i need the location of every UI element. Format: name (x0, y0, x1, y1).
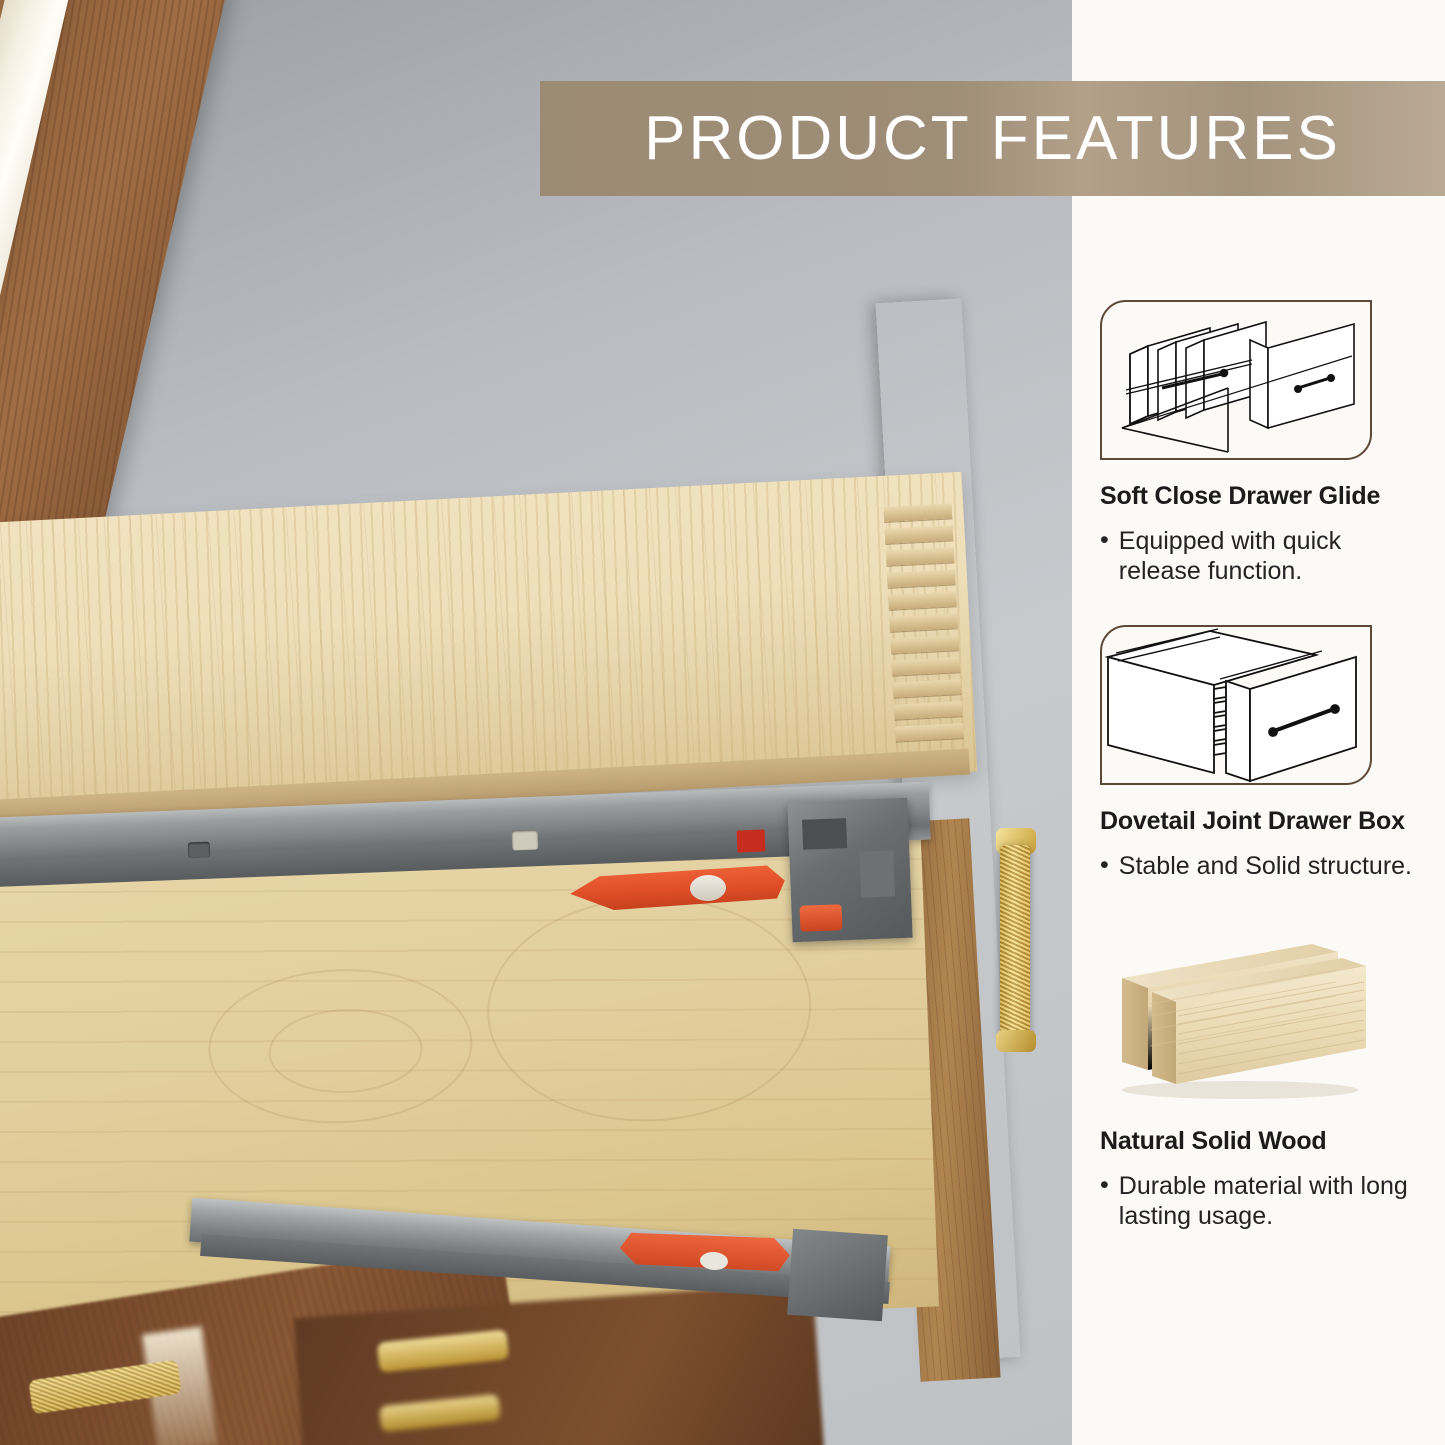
rail-slot (512, 830, 539, 851)
dovetail-notches (884, 503, 967, 756)
brass-knurled-handle (1000, 845, 1030, 1040)
feature-title: Soft Close Drawer Glide (1100, 482, 1430, 511)
feature-title: Natural Solid Wood (1100, 1127, 1430, 1156)
soft-close-mechanism-bottom (787, 1229, 888, 1321)
feature-bullet: • Durable material with long lasting usa… (1100, 1172, 1430, 1231)
solid-wood-boards-icon (1100, 930, 1380, 1105)
bullet-glyph: • (1100, 1172, 1109, 1231)
feature-bullet-text: Stable and Solid structure. (1119, 852, 1412, 882)
brass-handle-cap-bottom (996, 1030, 1036, 1052)
infographic-page: PRODUCT FEATURES (0, 0, 1445, 1445)
title-banner: PRODUCT FEATURES (540, 81, 1445, 196)
drawer-glide-icon (1100, 300, 1372, 460)
dovetail-drawer-box-icon (1100, 625, 1372, 785)
feature-bullet: • Stable and Solid structure. (1100, 852, 1430, 882)
red-indicator-tab (737, 829, 766, 852)
page-title: PRODUCT FEATURES (644, 103, 1341, 174)
bullet-glyph: • (1100, 527, 1109, 586)
feature-block-1: Soft Close Drawer Glide • Equipped with … (1100, 300, 1430, 586)
product-photo (0, 0, 1072, 1445)
mechanism-orange-clip (800, 904, 843, 932)
feature-block-2: Dovetail Joint Drawer Box • Stable and S… (1100, 625, 1430, 882)
feature-bullet-text: Equipped with quick release function. (1119, 527, 1419, 586)
rail-hole (188, 842, 211, 859)
bullet-glyph: • (1100, 852, 1109, 882)
feature-block-3: Natural Solid Wood • Durable material wi… (1100, 930, 1430, 1231)
feature-bullet: • Equipped with quick release function. (1100, 527, 1430, 586)
feature-bullet-text: Durable material with long lasting usage… (1119, 1172, 1419, 1231)
feature-title: Dovetail Joint Drawer Box (1100, 807, 1430, 836)
